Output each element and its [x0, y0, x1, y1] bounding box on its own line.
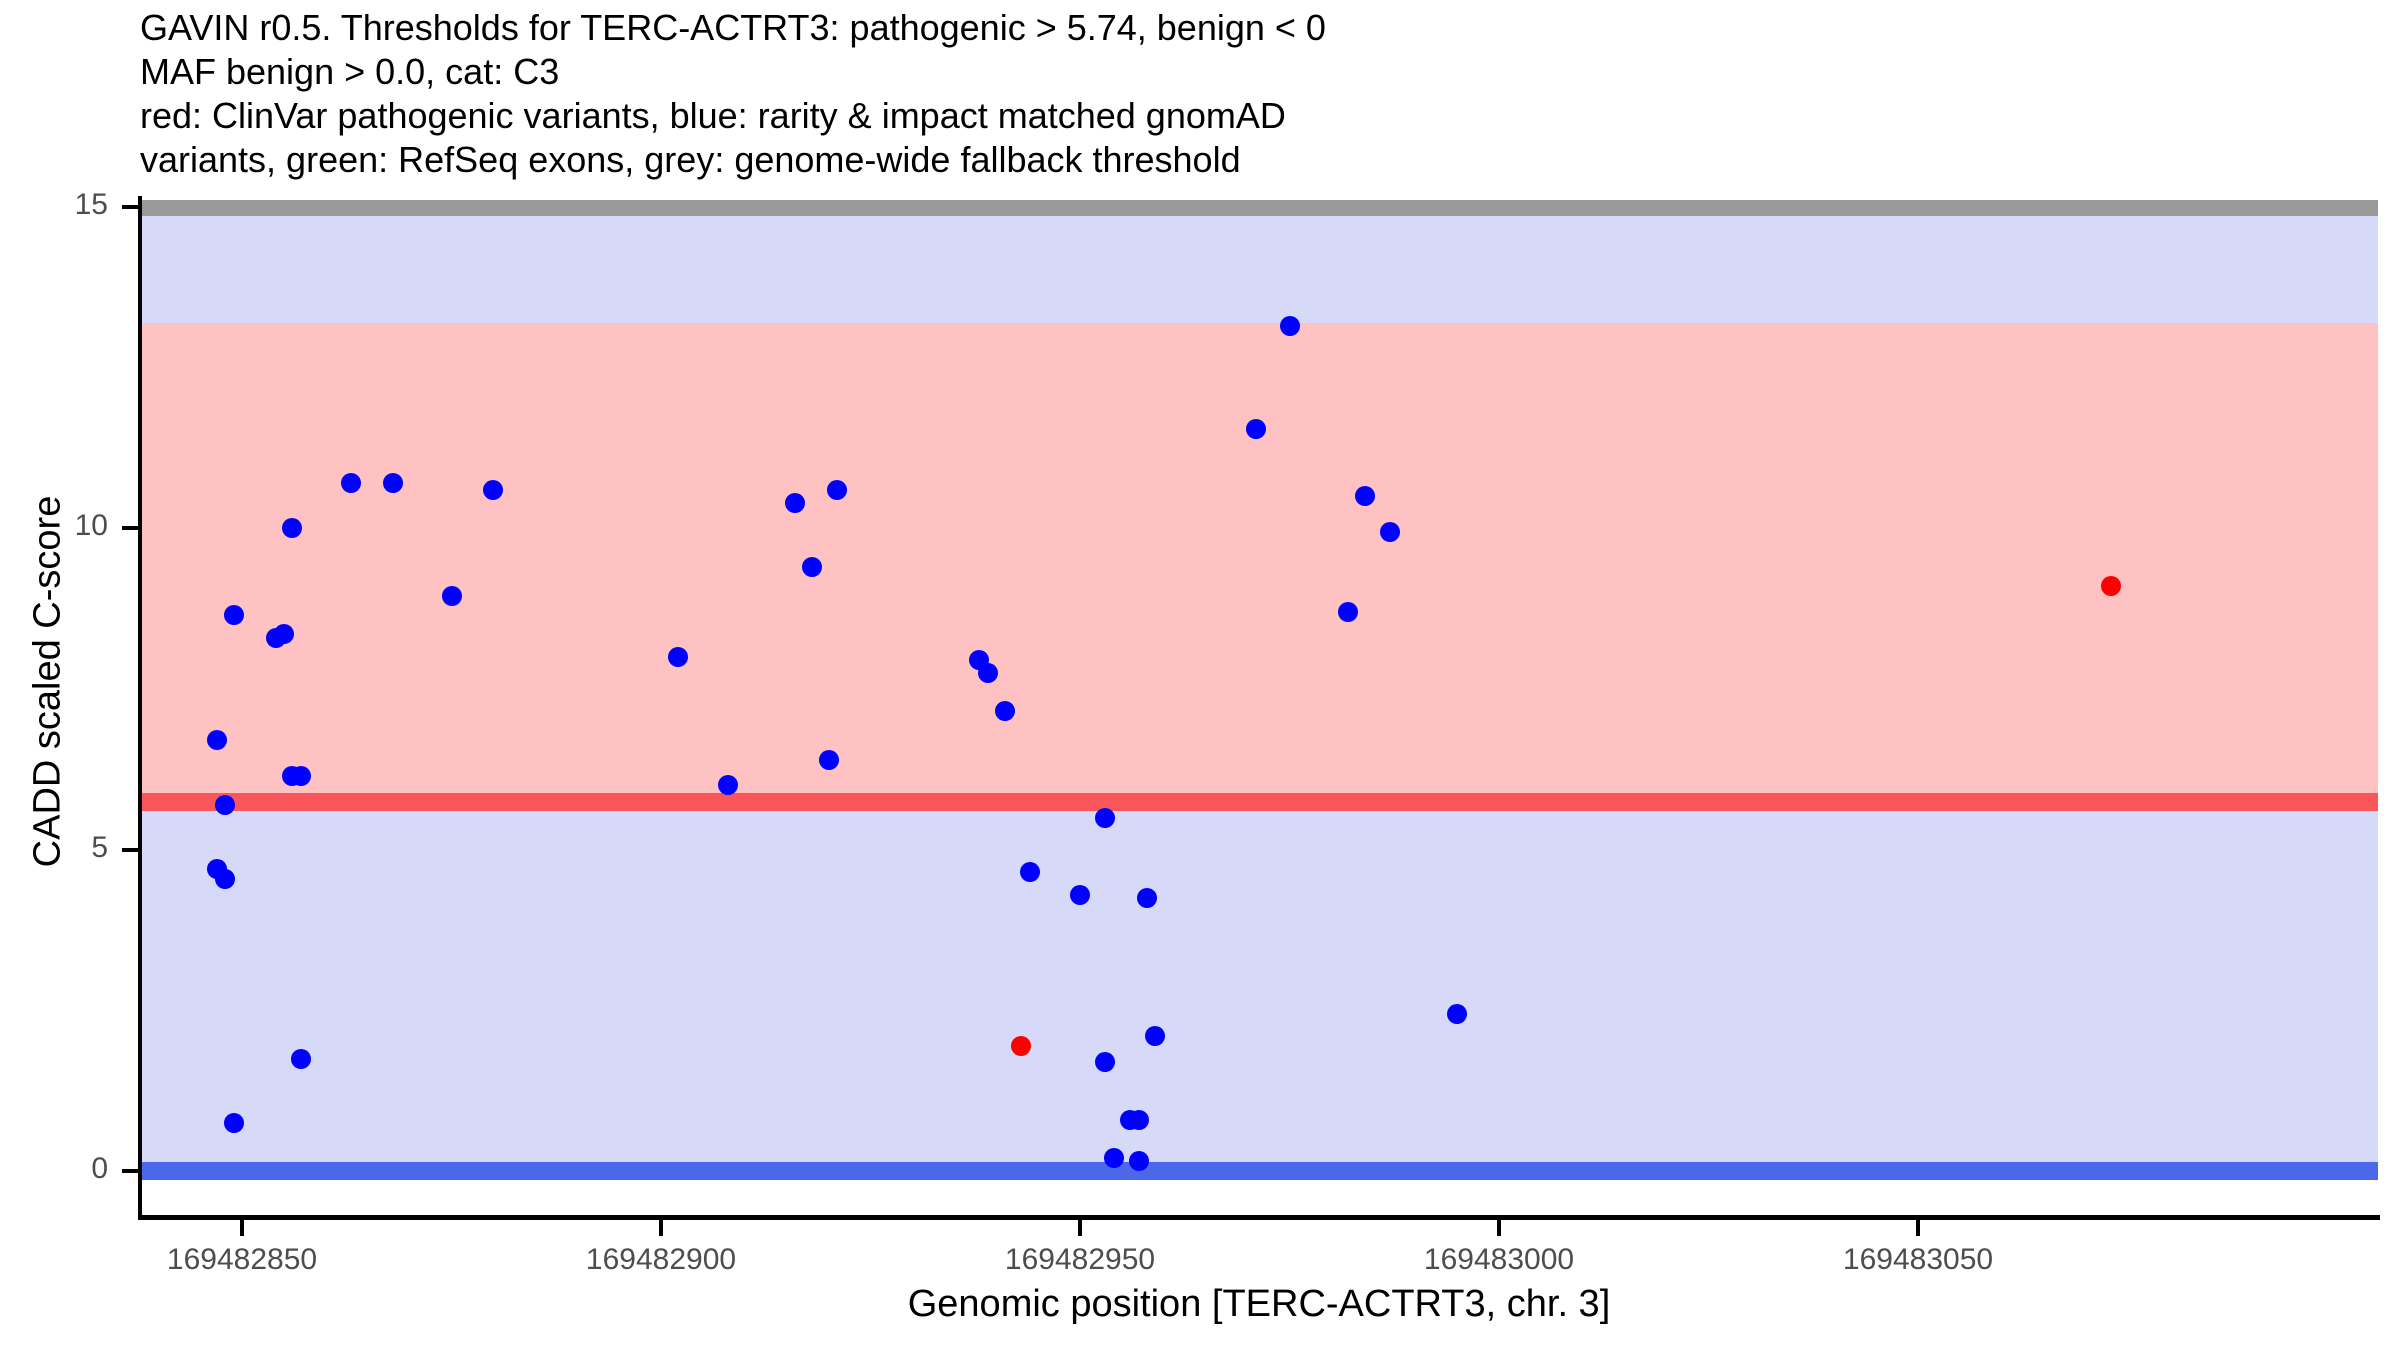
- data-point-gnomad: [668, 647, 688, 667]
- data-point-gnomad: [1246, 419, 1266, 439]
- data-point-gnomad: [995, 701, 1015, 721]
- band-pathogenic: [140, 323, 2378, 802]
- data-point-pathogenic: [1011, 1036, 1031, 1056]
- chart-title-block: GAVIN r0.5. Thresholds for TERC-ACTRT3: …: [140, 6, 2240, 182]
- chart-root: GAVIN r0.5. Thresholds for TERC-ACTRT3: …: [0, 0, 2400, 1350]
- y-axis-line: [138, 196, 142, 1219]
- data-point-gnomad: [224, 605, 244, 625]
- title-line-4: variants, green: RefSeq exons, grey: gen…: [140, 138, 2240, 182]
- data-point-gnomad: [1020, 862, 1040, 882]
- data-point-gnomad: [215, 869, 235, 889]
- data-point-gnomad: [291, 766, 311, 786]
- data-point-gnomad: [1070, 885, 1090, 905]
- y-tick-5: [122, 848, 138, 852]
- x-tick-169483050: [1916, 1220, 1920, 1236]
- y-tick-0: [122, 1169, 138, 1173]
- data-point-gnomad: [1095, 808, 1115, 828]
- data-point-gnomad: [291, 1049, 311, 1069]
- x-tick-label-169482900: 169482900: [586, 1243, 736, 1277]
- data-point-gnomad: [1355, 486, 1375, 506]
- plot-area: [140, 200, 2378, 1215]
- x-axis-line: [138, 1215, 2380, 1220]
- data-point-gnomad: [827, 480, 847, 500]
- data-point-gnomad: [1137, 888, 1157, 908]
- data-point-gnomad: [1338, 602, 1358, 622]
- genome-wide-fallback-threshold-line: [140, 200, 2378, 216]
- data-point-gnomad: [1380, 522, 1400, 542]
- data-point-gnomad: [1129, 1110, 1149, 1130]
- data-point-gnomad: [1104, 1148, 1124, 1168]
- x-tick-169482900: [659, 1220, 663, 1236]
- data-point-gnomad: [978, 663, 998, 683]
- data-point-gnomad: [224, 1113, 244, 1133]
- data-point-gnomad: [802, 557, 822, 577]
- data-point-pathogenic: [2101, 576, 2121, 596]
- data-point-gnomad: [1129, 1151, 1149, 1171]
- data-point-gnomad: [819, 750, 839, 770]
- title-line-1: GAVIN r0.5. Thresholds for TERC-ACTRT3: …: [140, 6, 2240, 50]
- y-axis-title: CADD scaled C-score: [27, 302, 70, 1062]
- y-tick-15: [122, 205, 138, 209]
- title-line-2: MAF benign > 0.0, cat: C3: [140, 50, 2240, 94]
- y-axis-title-wrap: CADD scaled C-score: [0, 0, 64, 1350]
- x-axis-title: Genomic position [TERC-ACTRT3, chr. 3]: [140, 1283, 2378, 1326]
- data-point-gnomad: [785, 493, 805, 513]
- benign-threshold-line: [140, 1162, 2378, 1180]
- x-tick-169482950: [1078, 1220, 1082, 1236]
- data-point-gnomad: [1447, 1004, 1467, 1024]
- x-tick-169483000: [1497, 1220, 1501, 1236]
- x-tick-label-169483000: 169483000: [1424, 1243, 1574, 1277]
- data-point-gnomad: [215, 795, 235, 815]
- data-point-gnomad: [1095, 1052, 1115, 1072]
- x-tick-169482850: [240, 1220, 244, 1236]
- x-tick-label-169483050: 169483050: [1843, 1243, 1993, 1277]
- title-line-3: red: ClinVar pathogenic variants, blue: …: [140, 94, 2240, 138]
- data-point-gnomad: [1280, 316, 1300, 336]
- data-point-gnomad: [442, 586, 462, 606]
- x-tick-label-169482950: 169482950: [1005, 1243, 1155, 1277]
- y-tick-10: [122, 526, 138, 530]
- pathogenic-threshold-line: [140, 793, 2378, 811]
- x-tick-label-169482850: 169482850: [167, 1243, 317, 1277]
